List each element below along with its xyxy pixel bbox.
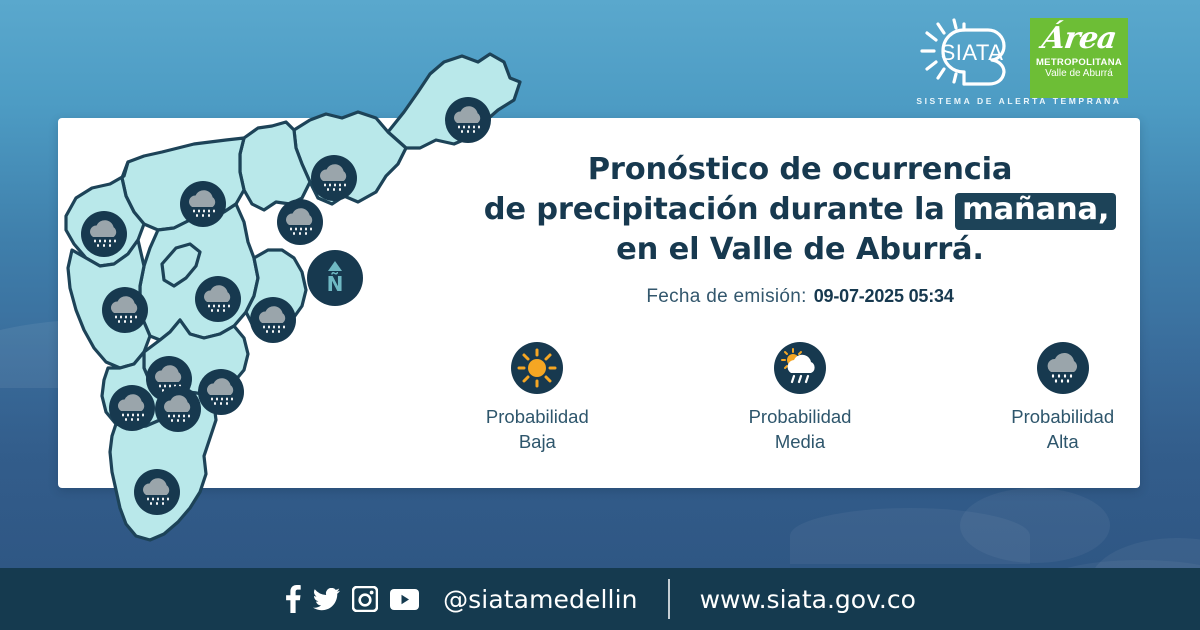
- sun-icon: [511, 342, 563, 394]
- forecast-content: Pronóstico de ocurrencia de precipitació…: [470, 150, 1130, 455]
- website-url[interactable]: www.siata.gov.co: [700, 585, 916, 614]
- map-marker-san-jeronimo[interactable]: [102, 287, 148, 333]
- legend-alta-line2: Alta: [1011, 430, 1114, 455]
- page-title: Pronóstico de ocurrencia de precipitació…: [470, 150, 1130, 269]
- legend-baja-line1: Probabilidad: [486, 405, 589, 430]
- youtube-icon[interactable]: [390, 589, 419, 610]
- background-cloud: [960, 488, 1110, 563]
- title-highlight-manana: mañana,: [955, 193, 1116, 230]
- compass-label: Ñ: [327, 272, 344, 296]
- map-marker-la-estrella[interactable]: [155, 386, 201, 432]
- legend-item-alta: Probabilidad Alta: [995, 342, 1130, 455]
- legend-label-baja: Probabilidad Baja: [486, 405, 589, 455]
- map-marker-sabaneta[interactable]: [109, 385, 155, 431]
- map-marker-medellin[interactable]: [195, 276, 241, 322]
- map-marker-envigado[interactable]: [250, 297, 296, 343]
- social-handle[interactable]: @siatamedellin: [443, 585, 637, 614]
- social-links: [284, 585, 419, 613]
- legend-item-baja: Probabilidad Baja: [470, 342, 605, 455]
- compass-north-icon: Ñ: [307, 250, 363, 306]
- area-metropolitana-logo: Área METROPOLITANA Valle de Aburrá: [1030, 18, 1128, 98]
- legend-alta-line1: Probabilidad: [1011, 405, 1114, 430]
- legend-label-media: Probabilidad Media: [749, 405, 852, 455]
- emission-label: Fecha de emisión:: [646, 286, 806, 308]
- map-marker-copacabana[interactable]: [277, 199, 323, 245]
- footer-bar: @siatamedellin www.siata.gov.co: [0, 568, 1200, 630]
- legend-media-line2: Media: [749, 430, 852, 455]
- facebook-icon[interactable]: [284, 585, 301, 613]
- area-line2: Valle de Aburrá: [1045, 68, 1113, 79]
- legend-label-alta: Probabilidad Alta: [1011, 405, 1114, 455]
- title-line-3: en el Valle de Aburrá.: [470, 230, 1130, 270]
- footer-divider: [668, 579, 670, 619]
- legend-baja-line2: Baja: [486, 430, 589, 455]
- map-marker-bello[interactable]: [180, 181, 226, 227]
- title-line-1: Pronóstico de ocurrencia: [470, 150, 1130, 190]
- legend-media-line1: Probabilidad: [749, 405, 852, 430]
- map-marker-san-pedro[interactable]: [81, 211, 127, 257]
- valle-de-aburra-map: Ñ: [58, 52, 528, 577]
- map-marker-angelopolis[interactable]: [134, 469, 180, 515]
- siata-tagline: SISTEMA DE ALERTA TEMPRANA: [910, 96, 1128, 106]
- infographic-canvas: SIATA Área METROPOLITANA Valle de Aburrá…: [0, 0, 1200, 630]
- title-line-2-text: de precipitación durante la: [484, 192, 955, 227]
- map-marker-caldas[interactable]: [198, 369, 244, 415]
- cloud-rain-icon: [1037, 342, 1089, 394]
- emission-date-row: Fecha de emisión: 09-07-2025 05:34: [470, 286, 1130, 308]
- logo-group: SIATA Área METROPOLITANA Valle de Aburrá: [902, 18, 1128, 98]
- twitter-icon[interactable]: [313, 588, 340, 611]
- probability-legend: Probabilidad Baja: [470, 342, 1130, 455]
- sun-cloud-rain-icon: [774, 342, 826, 394]
- area-line1: METROPOLITANA: [1036, 57, 1122, 68]
- siata-wordmark: SIATA: [941, 40, 1004, 65]
- title-line-2: de precipitación durante la mañana,: [470, 190, 1130, 230]
- map-marker-barbosa[interactable]: [445, 97, 491, 143]
- emission-value: 09-07-2025 05:34: [814, 286, 954, 307]
- instagram-icon[interactable]: [352, 586, 378, 612]
- siata-logo: SIATA: [902, 18, 1022, 90]
- map-marker-girardota[interactable]: [311, 155, 357, 201]
- legend-item-media: Probabilidad Media: [733, 342, 868, 455]
- area-script-text: Área: [1040, 24, 1118, 54]
